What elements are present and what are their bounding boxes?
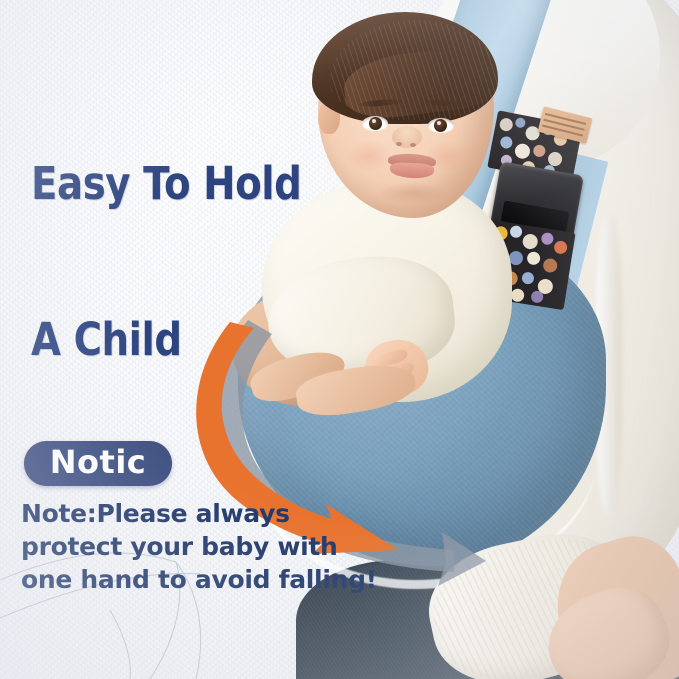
product-image-canvas: Easy To Hold A Child Notic Note:Please a… [0,0,679,679]
background-vignette [0,0,679,679]
